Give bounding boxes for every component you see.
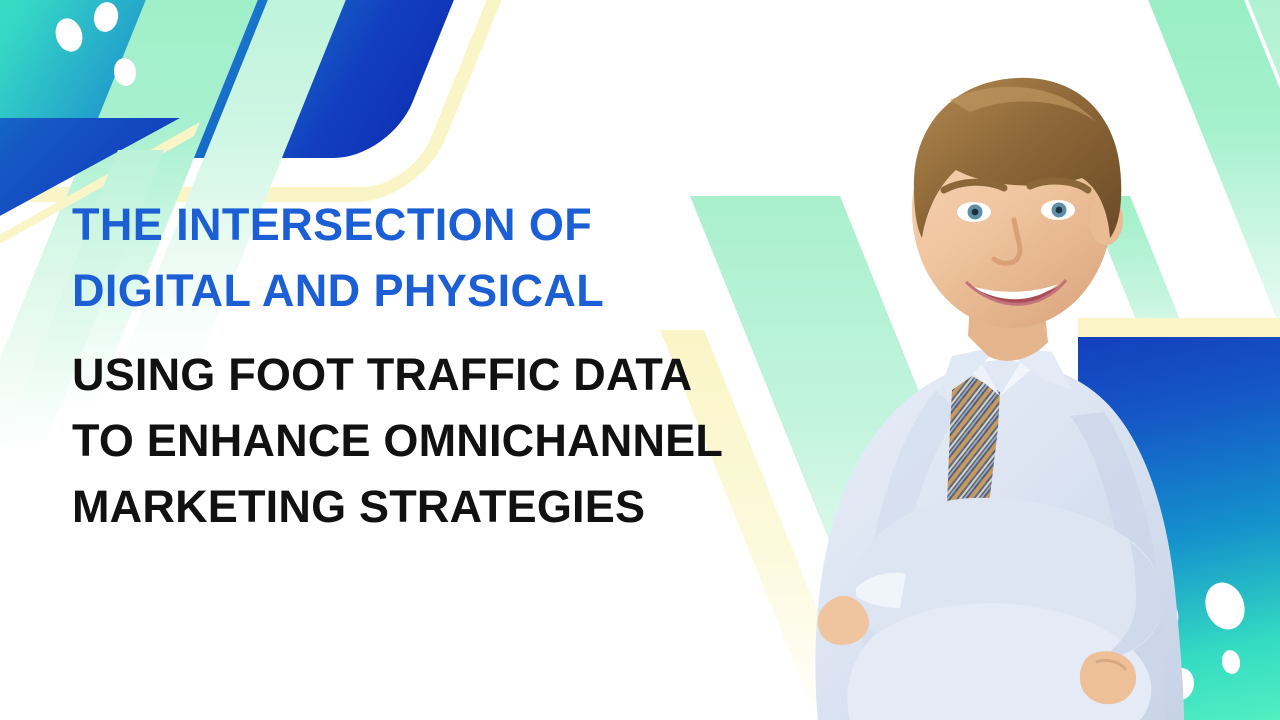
top-left-cream-stripe [0,0,548,202]
decor-dot-top-left-2 [91,0,121,34]
decor-dot-top-left-1 [51,15,86,55]
businessman-photo [700,60,1240,720]
slide-canvas: THE INTERSECTION OF DIGITAL AND PHYSICAL… [0,0,1280,720]
eye-right-pupil [1056,207,1063,214]
eye-left-pupil [972,209,979,216]
decor-dot-top-left-3 [112,57,138,88]
